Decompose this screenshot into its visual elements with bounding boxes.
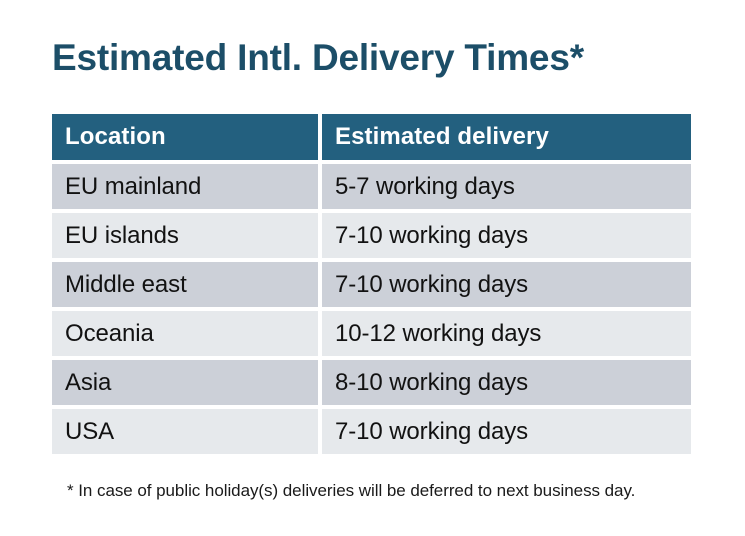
cell-estimated-delivery: 7-10 working days bbox=[322, 262, 691, 307]
cell-estimated-delivery: 5-7 working days bbox=[322, 164, 691, 209]
table-row: EU mainland 5-7 working days bbox=[52, 164, 691, 209]
footnote-text: * In case of public holiday(s) deliverie… bbox=[67, 481, 635, 501]
cell-location: Middle east bbox=[52, 262, 318, 307]
table-row: Oceania 10-12 working days bbox=[52, 311, 691, 356]
cell-estimated-delivery: 7-10 working days bbox=[322, 409, 691, 454]
column-header-estimated-delivery: Estimated delivery bbox=[322, 114, 691, 160]
table-row: USA 7-10 working days bbox=[52, 409, 691, 454]
table-row: EU islands 7-10 working days bbox=[52, 213, 691, 258]
cell-location: EU islands bbox=[52, 213, 318, 258]
column-header-location: Location bbox=[52, 114, 318, 160]
table-header: Location Estimated delivery bbox=[52, 114, 691, 160]
cell-estimated-delivery: 10-12 working days bbox=[322, 311, 691, 356]
estimated-delivery-times-table: Location Estimated delivery EU mainland … bbox=[48, 110, 695, 458]
cell-location: EU mainland bbox=[52, 164, 318, 209]
page-title: Estimated Intl. Delivery Times* bbox=[52, 36, 584, 80]
table-row: Middle east 7-10 working days bbox=[52, 262, 691, 307]
table-row: Asia 8-10 working days bbox=[52, 360, 691, 405]
cell-location: Asia bbox=[52, 360, 318, 405]
cell-location: USA bbox=[52, 409, 318, 454]
cell-location: Oceania bbox=[52, 311, 318, 356]
delivery-times-page: Estimated Intl. Delivery Times* Location… bbox=[0, 0, 745, 536]
table-body: EU mainland 5-7 working days EU islands … bbox=[52, 164, 691, 454]
cell-estimated-delivery: 8-10 working days bbox=[322, 360, 691, 405]
cell-estimated-delivery: 7-10 working days bbox=[322, 213, 691, 258]
table-header-row: Location Estimated delivery bbox=[52, 114, 691, 160]
